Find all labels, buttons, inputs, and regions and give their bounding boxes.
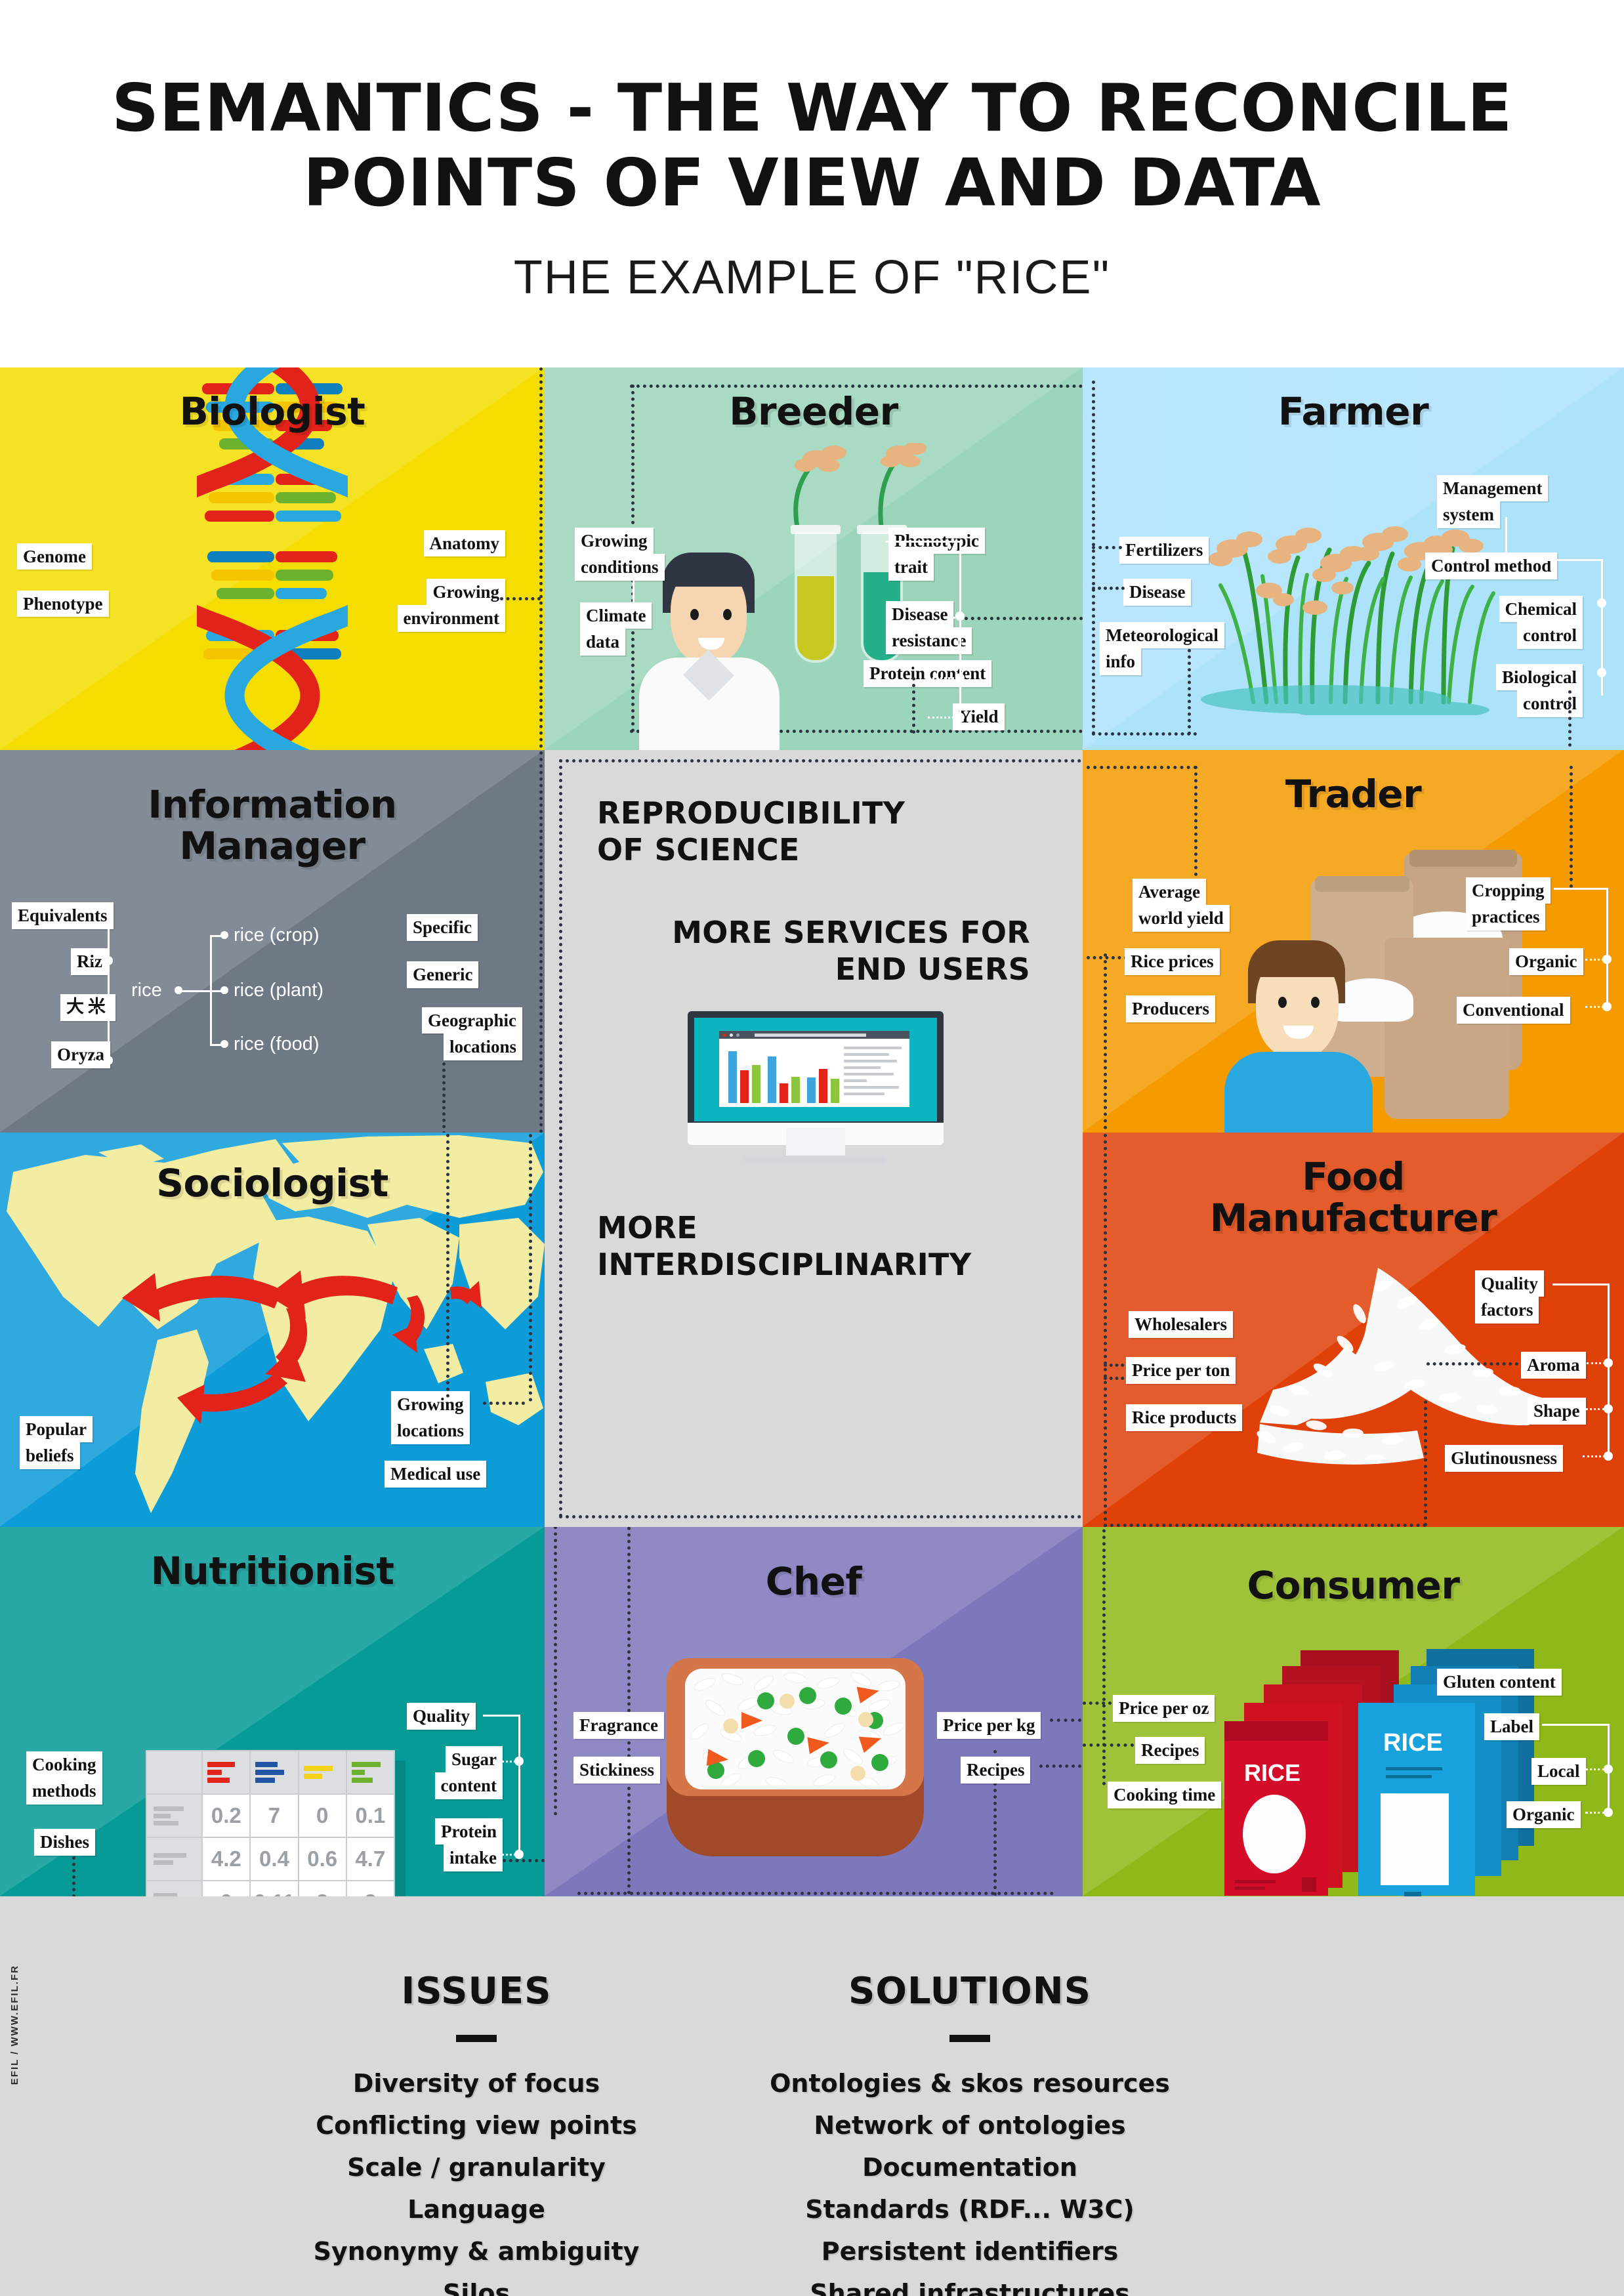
page-title-line-2: POINTS OF VIEW AND DATA	[0, 146, 1624, 220]
label-equivalents: Equivalents	[12, 902, 114, 929]
blue-package-label: RICE	[1383, 1729, 1443, 1757]
pea-icon	[820, 1751, 837, 1768]
browser-window	[719, 1031, 909, 1107]
label-system: system	[1437, 501, 1500, 528]
connector-white-nutri-trunk	[518, 1715, 520, 1854]
panel-trader[interactable]: Trader	[1083, 750, 1624, 1133]
window-close-icon	[723, 1033, 726, 1037]
label-label: Label	[1484, 1713, 1539, 1740]
header-cell-blank	[146, 1751, 202, 1794]
label-protein: Protein	[435, 1818, 503, 1845]
window-minimize-icon	[730, 1033, 733, 1037]
label-group-geographic-locations[interactable]: Geographic locations	[371, 1007, 522, 1060]
label-shape: Shape	[1528, 1398, 1586, 1425]
connector-price-per-oz	[1083, 1701, 1112, 1705]
connector-infomgr-right-vertical	[539, 750, 543, 1133]
panel-food-manufacturer[interactable]: Food Manufacturer	[1083, 1133, 1624, 1527]
label-group-growing-locations[interactable]: Growing locations	[391, 1391, 470, 1444]
connector-glutinousness	[1583, 1455, 1605, 1457]
bar	[791, 1077, 800, 1103]
table-row: 0.2 7 0 0.1	[146, 1794, 394, 1837]
connector-white-quality	[1552, 1284, 1609, 1285]
label-rice-products: Rice products	[1126, 1404, 1242, 1431]
label-phenotype: Phenotype	[17, 591, 109, 617]
issue-item: Synonymy & ambiguity	[247, 2239, 706, 2264]
label-protein-content: Protein content	[864, 660, 991, 687]
connector-dishes-down	[72, 1856, 75, 1896]
pea-icon	[799, 1687, 816, 1704]
label-conditions: conditions	[575, 554, 665, 580]
connector-node-sugar	[514, 1757, 524, 1766]
connector-white-1	[633, 568, 635, 604]
panel-consumer[interactable]: Consumer RICE	[1083, 1527, 1624, 1896]
label-group-protein-intake[interactable]: Protein intake	[362, 1818, 503, 1871]
connector-price-per-kg	[1050, 1719, 1081, 1722]
label-wholesalers: Wholesalers	[1129, 1311, 1233, 1338]
label-group-growing-conditions[interactable]: Growing conditions	[575, 528, 665, 581]
solution-item: Persistent identifiers	[740, 2239, 1199, 2264]
label-growing: Growing	[391, 1391, 470, 1417]
issue-item: Diversity of focus	[247, 2071, 706, 2096]
pea-icon	[787, 1728, 804, 1745]
test-tube-1	[795, 532, 837, 663]
table-header-row	[146, 1751, 394, 1794]
connector-node-conventional	[1602, 1002, 1612, 1011]
connector-breeder-to-farmer	[965, 617, 1083, 620]
connector-white-mgmt	[1505, 517, 1507, 560]
browser-url-bar	[755, 1033, 866, 1037]
label-stickiness: Stickiness	[573, 1757, 660, 1784]
panel-grid: Biologist Genome Phenotype Anatomy Growi…	[0, 367, 1624, 1896]
text-placeholder-lines	[844, 1047, 902, 1099]
blue-package-front: RICE	[1358, 1703, 1475, 1896]
label-disease: Disease	[1123, 579, 1191, 606]
row-header	[146, 1881, 202, 1896]
cell-value: 7	[250, 1794, 298, 1837]
label-info: info	[1100, 648, 1141, 675]
label-group-sugar-content[interactable]: Sugar content	[362, 1746, 503, 1799]
footer: EFIL / WWW.EFIL.FR ISSUES Diversity of f…	[0, 1896, 1624, 2296]
package-crimp	[1224, 1721, 1328, 1741]
connector-conventional	[1585, 1006, 1604, 1008]
browser-titlebar	[719, 1031, 909, 1039]
label-group-popular-beliefs[interactable]: Popular beliefs	[20, 1416, 93, 1469]
label-organic: Organic	[1509, 948, 1583, 975]
connector-farmer-down	[1568, 690, 1572, 750]
page-subtitle: THE EXAMPLE OF "RICE"	[0, 220, 1624, 304]
title-line-2: Manufacturer	[1083, 1198, 1624, 1239]
label-group-quality-factors[interactable]: Quality factors	[1475, 1270, 1544, 1324]
bar	[752, 1065, 760, 1103]
connector-biologist-right	[500, 597, 541, 600]
eye-left-icon	[1278, 997, 1287, 1008]
label-sugar: Sugar	[446, 1746, 503, 1772]
cell-value: 4.2	[202, 1837, 250, 1881]
rice-tree-diagram: rice rice (crop) rice (plant) rice (food…	[131, 925, 348, 1069]
issues-heading: ISSUES	[247, 1970, 706, 2013]
connector-infomgr-down	[442, 1062, 446, 1133]
center-heading-2: MORE SERVICES FOR END USERS	[597, 914, 1030, 988]
corn-icon	[723, 1719, 738, 1734]
tree-root-label: rice	[131, 980, 162, 1001]
connector-sugar	[497, 1761, 516, 1763]
label-group-biologist-left[interactable]: Genome	[17, 543, 92, 570]
carrot-icon	[741, 1712, 762, 1729]
label-chemical: Chemical	[1499, 596, 1583, 622]
connector-protein-right	[503, 1859, 545, 1862]
test-tube-liquid-1	[797, 576, 834, 660]
label-organic: Organic	[1507, 1801, 1581, 1828]
credit-text: EFIL / WWW.EFIL.FR	[9, 1965, 20, 2085]
label-locations: locations	[444, 1033, 522, 1060]
label-quality: Quality	[1475, 1270, 1544, 1297]
panel-breeder[interactable]: Breeder	[545, 367, 1083, 750]
label-quality: Quality	[407, 1703, 476, 1730]
monitor-base	[744, 1156, 887, 1165]
cell-value: 0	[299, 1794, 346, 1837]
connector-white-quality	[483, 1715, 520, 1717]
panel-sociologist[interactable]: Sociologist Popular beliefs Growing loca…	[0, 1133, 545, 1527]
bar	[819, 1069, 827, 1103]
label-average: Average	[1133, 879, 1206, 905]
connector-growing-locations	[483, 1402, 525, 1405]
center-heading-3: MORE INTERDISCIPLINARITY	[597, 1209, 1043, 1283]
tree-trunk	[210, 935, 212, 1044]
panel-biologist[interactable]: Biologist Genome Phenotype Anatomy Growi…	[0, 367, 545, 750]
label-geographic: Geographic	[422, 1007, 522, 1033]
connector-aroma	[1587, 1362, 1605, 1364]
label-group-average-world-yield[interactable]: Average world yield	[1133, 879, 1230, 932]
label-intake: intake	[444, 1845, 503, 1871]
connector-equivalents-trunk	[108, 922, 110, 1061]
connector-fertilizers	[1092, 546, 1122, 549]
connector-white-3	[946, 617, 959, 619]
panel-title-breeder: Breeder	[545, 391, 1083, 432]
label-producers: Producers	[1126, 995, 1215, 1022]
center-heading-3-line-2: INTERDISCIPLINARITY	[597, 1246, 1043, 1283]
label-group-climate-data[interactable]: Climate data	[580, 602, 652, 656]
label-oryza: Oryza	[51, 1041, 110, 1068]
connector-biologist-vertical	[539, 367, 543, 750]
shirt-icon	[1224, 1052, 1373, 1133]
connector-socio-vertical-2	[529, 1133, 532, 1402]
panel-title-food-manufacturer: Food Manufacturer	[1083, 1156, 1624, 1238]
panel-chef[interactable]: Chef	[545, 1527, 1083, 1896]
connector-white-2	[886, 541, 961, 543]
rice-sack-front	[1385, 938, 1509, 1119]
bar	[740, 1070, 749, 1103]
panel-title-sociologist: Sociologist	[0, 1163, 545, 1204]
label-cooking: Cooking	[26, 1751, 102, 1778]
connector-riz	[92, 960, 106, 962]
label-fertilizers: Fertilizers	[1119, 537, 1209, 564]
tree-node-crop	[220, 931, 228, 939]
tree-node-plant	[220, 986, 228, 994]
label-group-cooking-methods[interactable]: Cooking methods	[26, 1751, 102, 1805]
panel-center-message: REPRODUCIBILITY OF SCIENCE MORE SERVICES…	[545, 750, 1083, 1527]
connector-white-trader-trunk	[1606, 888, 1608, 1006]
label-popular: Popular	[20, 1416, 93, 1442]
label-factors: factors	[1475, 1297, 1539, 1323]
bar	[728, 1051, 737, 1103]
solution-item: Ontologies & skos resources	[740, 2071, 1199, 2096]
connector-trader-top	[1087, 766, 1197, 769]
issues-divider	[456, 2035, 497, 2042]
title-line-1: Food	[1083, 1156, 1624, 1198]
label-medical-use: Medical use	[385, 1461, 486, 1488]
panel-title-farmer: Farmer	[1083, 391, 1624, 432]
panel-title-trader: Trader	[1083, 774, 1624, 815]
label-control-method: Control method	[1425, 553, 1557, 579]
connector-organic	[1585, 1812, 1605, 1814]
connector-node-glutinousness	[1604, 1451, 1613, 1461]
connector-node-local	[1604, 1764, 1613, 1774]
label-content: content	[435, 1772, 503, 1799]
row-header	[146, 1837, 202, 1881]
panel-title-nutritionist: Nutritionist	[0, 1551, 545, 1592]
panel-title-biologist: Biologist	[0, 391, 545, 432]
title-line-2: Manager	[0, 825, 545, 867]
connector-protein-down	[912, 677, 915, 734]
label-glutinousness: Glutinousness	[1445, 1445, 1563, 1472]
connector-white-4	[928, 677, 958, 679]
bar	[807, 1077, 816, 1103]
center-heading-3-line-1: MORE	[597, 1209, 1043, 1246]
rice-sprout-icon	[771, 443, 935, 528]
label-fragrance: Fragrance	[573, 1712, 664, 1739]
monitor-stand	[786, 1128, 845, 1156]
hair-top-icon	[1248, 940, 1345, 977]
label-specific: Specific	[407, 914, 478, 941]
connector-socio-vertical-1	[446, 1133, 449, 1398]
label-group-cropping-practices[interactable]: Cropping practices	[1466, 877, 1551, 930]
connector-node-organic	[1604, 1808, 1613, 1817]
label-group-meteorological-info[interactable]: Meteorological info	[1100, 622, 1224, 675]
carrot-icon	[807, 1734, 830, 1754]
connector-center-top	[559, 759, 1081, 762]
connector-equivalents-top	[98, 922, 109, 924]
label-environment: environment	[398, 605, 506, 631]
cell-value: 0.11	[250, 1881, 298, 1896]
label-group-management-system[interactable]: Management system	[1437, 475, 1548, 528]
tree-label-rice-crop: rice (crop)	[234, 925, 320, 946]
panel-title-consumer: Consumer	[1083, 1565, 1624, 1606]
connector-shape	[1581, 1408, 1605, 1410]
connector-breeder-top	[630, 385, 1083, 388]
connector-trader-left2	[1104, 953, 1107, 1129]
label-biological: Biological	[1496, 664, 1583, 690]
connector-node-protein	[514, 1850, 524, 1859]
package-window-blue	[1381, 1793, 1449, 1885]
panel-nutritionist[interactable]: Nutritionist	[0, 1527, 545, 1896]
label-growing: Growing	[575, 528, 654, 554]
rice-sack-back-top	[1409, 850, 1517, 867]
connector-organic	[1585, 959, 1604, 961]
connector-node-organic	[1602, 955, 1612, 964]
cell-value: 0.2	[202, 1794, 250, 1837]
label-generic: Generic	[407, 961, 478, 988]
label-group-biologist-left2[interactable]: Phenotype	[17, 591, 109, 617]
connector-farmer-bottom	[1092, 732, 1197, 736]
window-maximize-icon	[736, 1033, 739, 1037]
center-heading-2-line-1: MORE SERVICES FOR	[597, 914, 1030, 951]
issue-item: Silos	[247, 2281, 706, 2296]
label-methods: methods	[26, 1778, 102, 1804]
eye-right-icon	[1311, 997, 1320, 1008]
label-recipes: Recipes	[961, 1757, 1030, 1784]
issue-item: Scale / granularity	[247, 2155, 706, 2180]
connector-rice-prices	[1087, 956, 1127, 959]
center-heading-1-line-2: OF SCIENCE	[597, 831, 905, 868]
cell-value: 2	[299, 1881, 346, 1896]
bar	[768, 1056, 776, 1103]
bar	[831, 1079, 839, 1103]
label-cooking-time: Cooking time	[1108, 1782, 1221, 1808]
label-locations: locations	[391, 1417, 470, 1444]
connector-white-5	[928, 717, 958, 719]
page-title-line-1: SEMANTICS - THE WAY TO RECONCILE	[0, 0, 1624, 146]
label-price-per-ton: Price per ton	[1126, 1357, 1236, 1384]
solution-item: Standards (RDF... W3C)	[740, 2197, 1199, 2222]
label-group-chemical-control[interactable]: Chemical control	[1398, 596, 1583, 649]
connector-white-label	[1542, 1724, 1609, 1726]
eye-right-icon	[723, 609, 732, 620]
bar	[780, 1083, 788, 1103]
connector-dami	[92, 1007, 106, 1009]
connector-local	[1585, 1768, 1605, 1770]
label-beliefs: beliefs	[20, 1442, 80, 1469]
connector-center-left	[559, 759, 562, 1518]
connector-trader-right-vertical	[1570, 766, 1573, 888]
connector-node-aroma	[1604, 1358, 1613, 1367]
tree-root-stem	[178, 990, 210, 992]
swatch-yellow	[299, 1761, 346, 1784]
eye-left-icon	[690, 609, 699, 620]
connector-aroma-left	[1426, 1362, 1518, 1366]
pea-icon	[835, 1698, 852, 1715]
carrot-icon	[707, 1749, 730, 1768]
solutions-heading: SOLUTIONS	[740, 1970, 1199, 2013]
connector-oryza	[92, 1060, 106, 1062]
connector-recipes	[1083, 1743, 1134, 1747]
infographic-page: SEMANTICS - THE WAY TO RECONCILE POINTS …	[0, 0, 1624, 2296]
label-gluten-content: Gluten content	[1437, 1669, 1562, 1696]
tree-node-food	[220, 1040, 228, 1048]
connector-white-cropping	[1554, 888, 1608, 890]
monitor-illustration	[688, 1011, 944, 1175]
monitor-screen	[694, 1018, 937, 1121]
label-disease: Disease	[886, 601, 953, 627]
panel-information-manager[interactable]: Information Manager Equivalents Riz 大米 O…	[0, 750, 545, 1133]
connector-node-biological	[1597, 668, 1606, 677]
pea-icon	[748, 1750, 765, 1767]
tree-label-rice-plant: rice (plant)	[234, 980, 323, 1001]
label-management: Management	[1437, 475, 1548, 501]
label-local: Local	[1531, 1758, 1586, 1785]
label-anatomy: Anatomy	[424, 530, 506, 556]
label-world-yield: world yield	[1133, 905, 1230, 931]
red-package-front: RICE	[1224, 1721, 1328, 1896]
solution-item: Network of ontologies	[740, 2113, 1199, 2138]
issue-item: Language	[247, 2197, 706, 2222]
label-group-biological-control[interactable]: Biological control	[1398, 664, 1583, 717]
label-practices: practices	[1466, 904, 1545, 930]
package-window-red	[1243, 1795, 1306, 1873]
panel-farmer[interactable]: Farmer	[1083, 367, 1624, 750]
row-header	[146, 1794, 202, 1837]
label-growing: Growing	[427, 579, 505, 605]
center-heading-1: REPRODUCIBILITY OF SCIENCE	[597, 795, 905, 868]
connector-node-1	[955, 612, 965, 621]
issues-column: ISSUES Diversity of focus Conflicting vi…	[247, 1970, 706, 2296]
swatch-blue	[251, 1757, 297, 1787]
cell-value: 0.4	[250, 1837, 298, 1881]
swatch-red	[203, 1757, 249, 1787]
solution-item: Shared infrastructures	[740, 2281, 1199, 2296]
pea-icon	[757, 1692, 774, 1709]
label-aroma: Aroma	[1521, 1352, 1586, 1379]
connector-white-foodman-trunk	[1608, 1284, 1610, 1455]
connector-center-bottom	[559, 1515, 1081, 1518]
label-recipes: Recipes	[1135, 1737, 1205, 1764]
connector-white-control-top	[1531, 559, 1602, 561]
nutrient-table[interactable]: 0.2 7 0 0.1 4.2 0.4 0.6 4.7	[146, 1750, 395, 1896]
connector-node-shape	[1604, 1404, 1613, 1413]
title-line-1: Information	[0, 784, 545, 825]
header-cell-red	[202, 1751, 250, 1794]
label-price-per-kg: Price per kg	[937, 1712, 1041, 1739]
connector-chef-bottom	[577, 1892, 1054, 1895]
header: SEMANTICS - THE WAY TO RECONCILE POINTS …	[0, 0, 1624, 367]
connector-protein	[497, 1854, 516, 1856]
solutions-divider	[949, 2035, 990, 2042]
label-conventional: Conventional	[1457, 997, 1570, 1024]
label-group-biologist-right[interactable]: Anatomy	[315, 530, 505, 556]
label-cropping: Cropping	[1466, 877, 1551, 904]
connector-disease	[1092, 587, 1125, 590]
bar-chart	[726, 1043, 837, 1103]
label-group-growing-environment[interactable]: Growing environment	[315, 579, 505, 632]
corn-icon	[850, 1766, 865, 1781]
label-group-phenotypic-trait[interactable]: Phenotypic trait	[888, 528, 985, 581]
label-meteorological: Meteorological	[1100, 622, 1224, 648]
label-genome: Genome	[17, 543, 92, 570]
monitor-screen-frame	[688, 1011, 944, 1128]
center-heading-2-line-2: END USERS	[597, 951, 1030, 988]
solution-item: Documentation	[740, 2155, 1199, 2180]
label-climate: Climate	[580, 602, 652, 629]
hair-top-icon	[663, 553, 755, 587]
tree-label-rice-food: rice (food)	[234, 1033, 320, 1055]
header-cell-blue	[250, 1751, 298, 1794]
label-price-per-oz: Price per oz	[1113, 1695, 1215, 1722]
panel-title-chef: Chef	[545, 1561, 1083, 1602]
label-control: control	[1517, 690, 1583, 717]
connector-farmer-left-vertical	[1092, 381, 1095, 735]
label-data: data	[580, 629, 625, 655]
table-row: 0 0.11 2 2	[146, 1881, 394, 1896]
cell-value: 0	[202, 1881, 250, 1896]
label-dishes: Dishes	[34, 1829, 95, 1856]
label-rice-prices: Rice prices	[1125, 948, 1220, 975]
cell-value: 2	[346, 1881, 394, 1896]
corn-icon	[858, 1712, 873, 1727]
label-control: control	[1517, 622, 1583, 648]
header-cell-yellow	[299, 1751, 346, 1794]
connector-white-trunk	[959, 541, 961, 717]
red-package-label: RICE	[1244, 1759, 1301, 1787]
pea-icon	[871, 1754, 888, 1771]
